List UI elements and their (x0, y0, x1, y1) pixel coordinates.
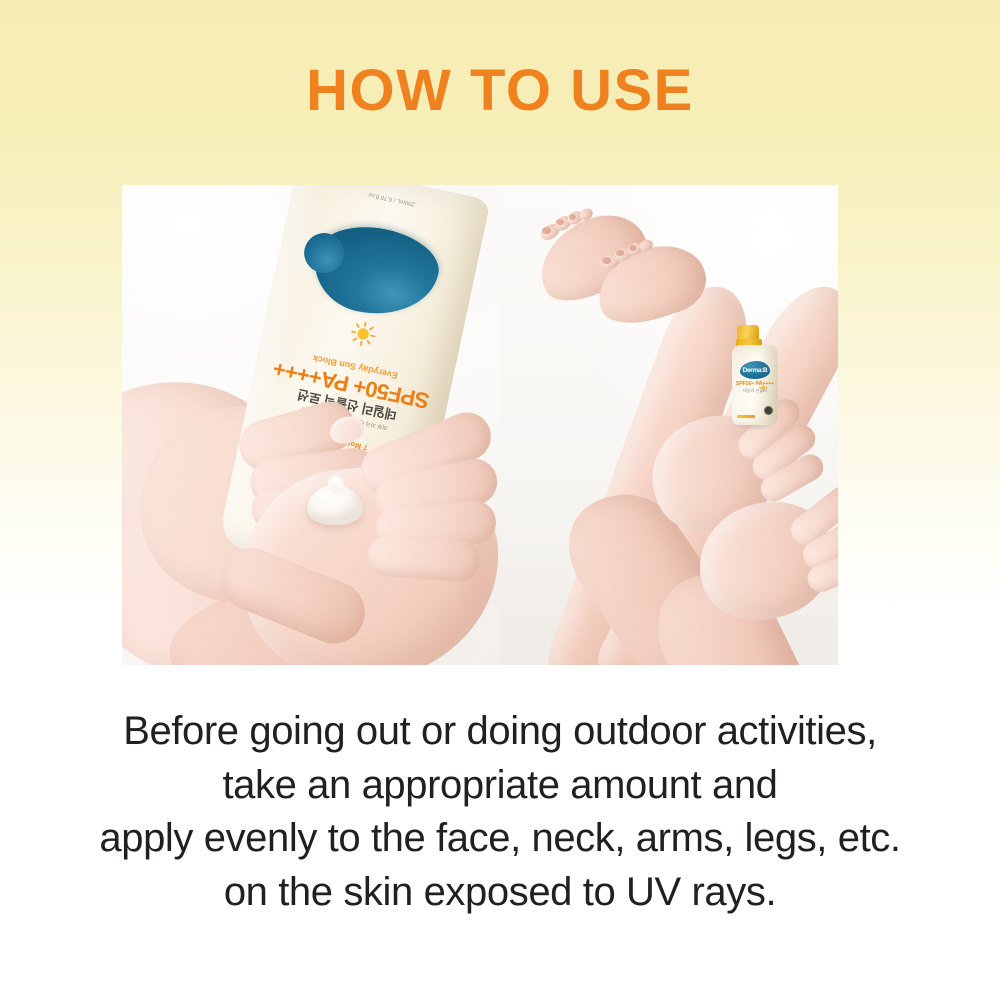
toenail (569, 214, 576, 220)
finger (367, 533, 482, 583)
product-bottle: Derma:B SPF50+ PA++++ 데일리 선블럭 (732, 325, 778, 425)
brand-logo-blob (306, 216, 445, 326)
label-korean-sub: 데일리 선블럭 (735, 388, 775, 394)
photo-strip: SUN CARE 기능성 자외선 차단 기능성 민감 피부도 순하게 끈적임 없… (122, 185, 838, 665)
toenail (542, 227, 551, 234)
label-accent-bar (737, 415, 755, 418)
caption-line-3: apply evenly to the face, neck, arms, le… (0, 812, 1000, 866)
how-to-use-infographic: HOW TO USE SUN CARE 기능성 자외선 차단 기능성 민감 피부… (0, 0, 1000, 1000)
label-spf: SPF50+ PA++++ (735, 381, 775, 387)
certification-seal-icon (764, 406, 773, 415)
page-title: HOW TO USE (0, 62, 1000, 120)
instruction-caption: Before going out or doing outdoor activi… (0, 705, 1000, 919)
legs-applying-sunscreen-photo: Derma:B SPF50+ PA++++ 데일리 선블럭 (500, 185, 838, 665)
caption-line-4: on the skin exposed to UV rays. (0, 866, 1000, 920)
caption-line-2: take an appropriate amount and (0, 759, 1000, 813)
sun-icon (759, 379, 768, 388)
toenail (629, 245, 636, 251)
brand-name: Derma:B (740, 361, 770, 379)
toenail (616, 250, 624, 256)
sun-icon (348, 318, 379, 349)
toenail (602, 257, 611, 264)
toenail (556, 219, 564, 225)
caption-line-1: Before going out or doing outdoor activi… (0, 705, 1000, 759)
hand-dispensing-sunscreen-photo: SUN CARE 기능성 자외선 차단 기능성 민감 피부도 순하게 끈적임 없… (122, 185, 500, 665)
